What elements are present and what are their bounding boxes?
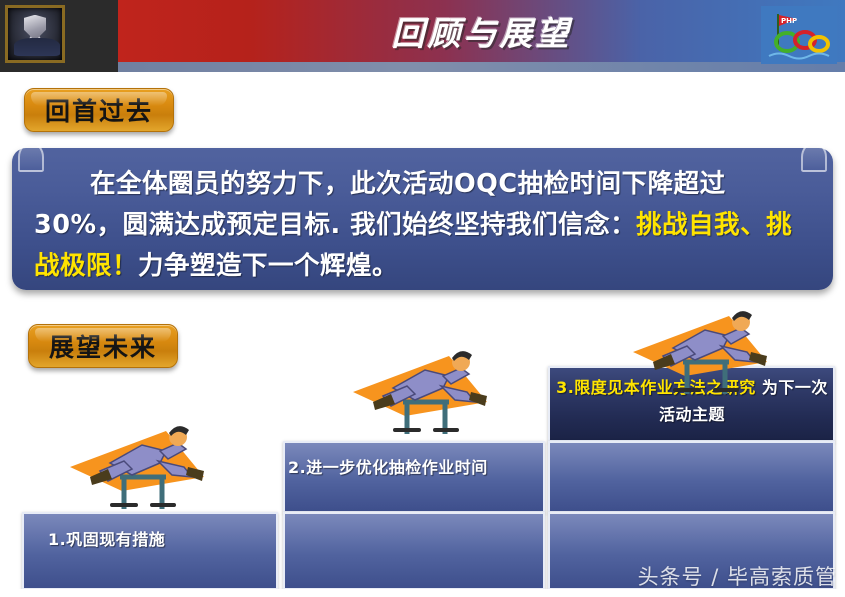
statement-text: 在全体圈员的努力下，此次活动OQC抽检时间下降超过30%，圆满达成预定目标. 我… [34, 164, 807, 287]
page-title: 回顾与展望 [118, 0, 845, 62]
statement-box: 在全体圈员的努力下，此次活动OQC抽检时间下降超过30%，圆满达成预定目标. 我… [12, 148, 833, 290]
logo-flag-text: PHP [781, 17, 797, 25]
scroll-curl-icon-left [18, 142, 44, 172]
drape-shape [14, 38, 60, 56]
callout-past-button[interactable]: 回首过去 [24, 88, 174, 132]
header-gradient-underbar [118, 62, 845, 72]
shield-icon [24, 15, 46, 41]
callout-future-button[interactable]: 展望未来 [28, 324, 178, 368]
runner-hurdle-icon-2 [345, 330, 495, 442]
statement-line-1: 在全体圈员的努力下，此次活动OQC抽检时间下 [90, 169, 648, 199]
slide-header: 回顾与展望 PHP [0, 0, 845, 72]
stair-block-col2-row2[interactable] [283, 512, 545, 590]
watermark: 头条号 / 毕高索质管 [638, 561, 837, 591]
scroll-curl-icon-right [801, 142, 827, 172]
statement-line-3-prefix: 信念： [558, 210, 636, 240]
statement-line-3-suffix: 力争塑造下一个辉煌。 [138, 251, 398, 281]
stair-label-step-2: 2.进一步优化抽检作业时间 [288, 452, 546, 480]
footer-strip [0, 589, 845, 597]
shield-emblem-icon [5, 5, 65, 63]
stair-label-step-1: 1.巩固现有措施 [48, 524, 278, 552]
runner-hurdle-icon-3 [625, 290, 775, 402]
olympic-rings-logo-icon: PHP [761, 6, 837, 64]
stair-block-col3-row2[interactable] [548, 441, 835, 513]
runner-hurdle-icon-1 [62, 405, 212, 517]
slide-canvas: 回顾与展望 PHP 回首过去 在全体圈员的努力下，此次活动OQC抽检时间下降超过… [0, 0, 845, 597]
